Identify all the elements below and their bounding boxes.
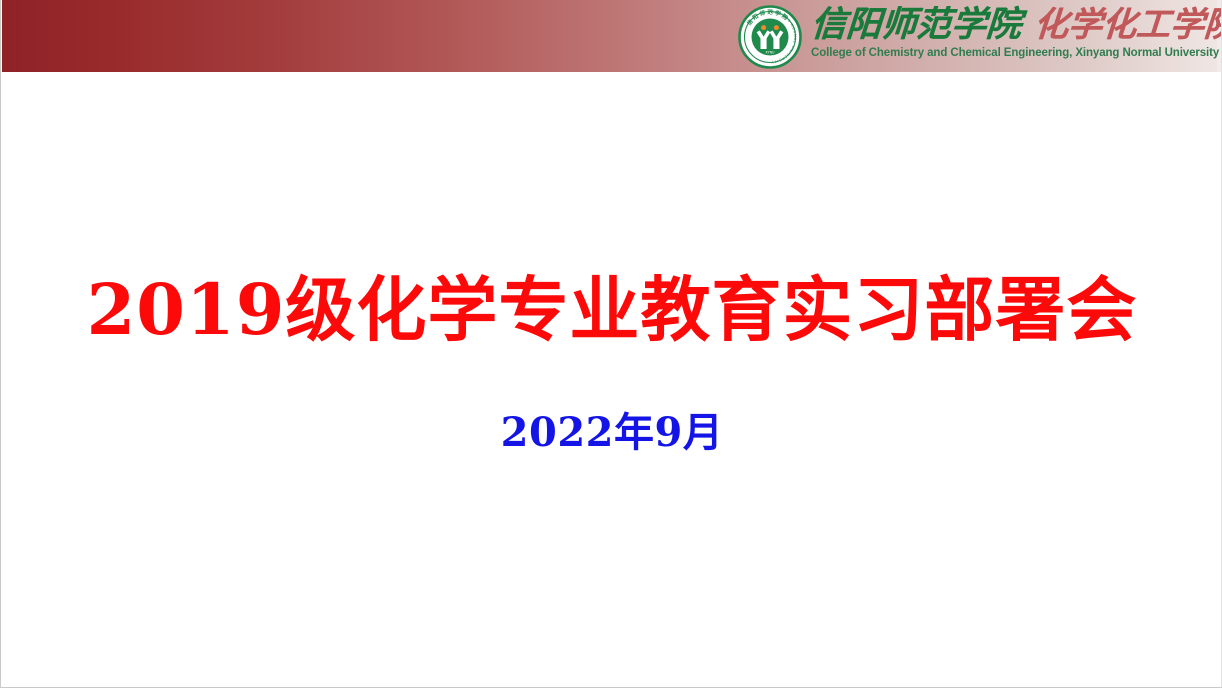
svg-text:XYNU: XYNU — [766, 51, 775, 55]
brand-english-line: College of Chemistry and Chemical Engine… — [811, 47, 1222, 59]
university-seal-icon: XYNU XINYANG NORMAL UNIVERSITY 信阳师范学院 — [738, 5, 802, 69]
college-name-cn: 化学化工学院 — [1033, 8, 1222, 42]
brand-text-group: 信阳师范学院 化学化工学院 College of Chemistry and C… — [811, 5, 1222, 59]
title-block: 2019级化学专业教育实习部署会 2022年9月 — [1, 0, 1222, 688]
presentation-slide: XYNU XINYANG NORMAL UNIVERSITY 信阳师范学院 信阳… — [0, 0, 1222, 688]
brand-lockup: XYNU XINYANG NORMAL UNIVERSITY 信阳师范学院 信阳… — [738, 5, 1222, 69]
slide-title: 2019级化学专业教育实习部署会 — [1, 272, 1222, 348]
university-name-cn: 信阳师范学院 — [810, 7, 1022, 42]
slide-subtitle: 2022年9月 — [1, 411, 1222, 455]
brand-chinese-row: 信阳师范学院 化学化工学院 — [811, 7, 1222, 42]
